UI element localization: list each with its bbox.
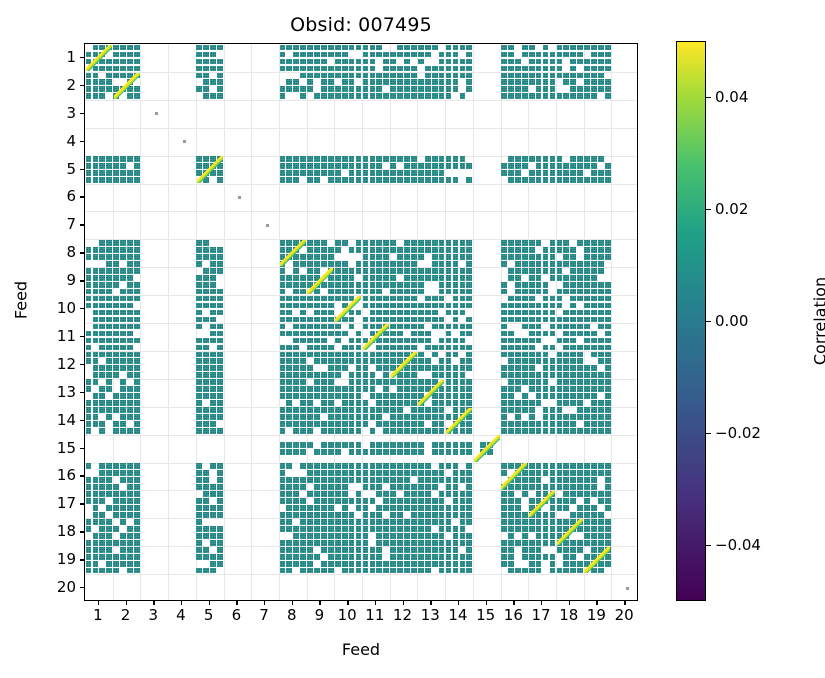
heatmap-cell — [390, 282, 396, 288]
heatmap-cell — [342, 240, 348, 246]
heatmap-cell — [363, 386, 369, 392]
heatmap-cell — [376, 275, 382, 281]
heatmap-cell — [328, 512, 334, 518]
heatmap-cell — [210, 66, 216, 72]
heatmap-cell — [404, 45, 410, 51]
heatmap-cell — [425, 533, 431, 539]
heatmap-cell — [591, 477, 597, 483]
heatmap-cell — [557, 463, 563, 469]
heatmap-cell — [557, 261, 563, 267]
heatmap-cell — [411, 512, 417, 518]
heatmap-cell — [570, 365, 576, 371]
heatmap-cell — [522, 421, 528, 427]
heatmap-cell — [397, 261, 403, 267]
heatmap-cell — [411, 449, 417, 455]
heatmap-cell — [321, 331, 327, 337]
heatmap-cell — [446, 561, 452, 567]
heatmap-cell — [363, 477, 369, 483]
heatmap-cell — [93, 540, 99, 546]
heatmap-cell — [598, 170, 604, 176]
heatmap-cell — [432, 421, 438, 427]
heatmap-cell — [356, 379, 362, 385]
heatmap-cell — [411, 177, 417, 183]
heatmap-cell — [127, 407, 133, 413]
heatmap-cell — [439, 554, 445, 560]
heatmap-cell — [307, 442, 313, 448]
heatmap-cell — [120, 331, 126, 337]
heatmap-cell — [370, 568, 376, 574]
heatmap-cell — [563, 310, 569, 316]
heatmap-cell — [501, 66, 507, 72]
heatmap-cell — [217, 352, 223, 358]
heatmap-cell — [127, 484, 133, 490]
heatmap-cell — [522, 177, 528, 183]
heatmap-cell — [93, 86, 99, 92]
heatmap-cell — [543, 261, 549, 267]
heatmap-cell — [99, 352, 105, 358]
heatmap-cell — [363, 372, 369, 378]
heatmap-cell — [397, 561, 403, 567]
heatmap-cell — [363, 73, 369, 79]
heatmap-cell — [196, 386, 202, 392]
heatmap-cell — [460, 554, 466, 560]
heatmap-cell — [370, 561, 376, 567]
heatmap-cell — [134, 177, 140, 183]
heatmap-cell — [550, 358, 556, 364]
heatmap-cell — [370, 428, 376, 434]
heatmap-cell — [446, 352, 452, 358]
heatmap-cell — [307, 568, 313, 574]
heatmap-cell — [404, 93, 410, 99]
heatmap-cell — [418, 310, 424, 316]
heatmap-cell — [584, 519, 590, 525]
heatmap-cell — [605, 365, 611, 371]
heatmap-cell — [501, 393, 507, 399]
heatmap-cell — [563, 289, 569, 295]
heatmap-cell — [411, 463, 417, 469]
heatmap-cell — [113, 568, 119, 574]
heatmap-cell — [439, 338, 445, 344]
heatmap-cell — [86, 407, 92, 413]
heatmap-cell — [196, 519, 202, 525]
heatmap-cell — [363, 79, 369, 85]
heatmap-cell — [370, 372, 376, 378]
heatmap-cell — [536, 240, 542, 246]
heatmap-cell — [314, 498, 320, 504]
heatmap-cell — [577, 45, 583, 51]
gridline-vertical — [611, 44, 612, 600]
heatmap-cell — [460, 393, 466, 399]
heatmap-cell — [356, 407, 362, 413]
heatmap-cell — [591, 540, 597, 546]
heatmap-cell — [113, 505, 119, 511]
heatmap-cell — [515, 59, 521, 65]
heatmap-cell — [217, 358, 223, 364]
heatmap-cell — [349, 386, 355, 392]
heatmap-cell — [550, 52, 556, 58]
heatmap-cell — [508, 331, 514, 337]
heatmap-cell — [210, 275, 216, 281]
heatmap-cell — [397, 407, 403, 413]
heatmap-cell — [529, 282, 535, 288]
heatmap-cell — [86, 414, 92, 420]
heatmap-cell — [570, 289, 576, 295]
heatmap-cell — [307, 240, 313, 246]
heatmap-cell — [453, 163, 459, 169]
heatmap-cell — [106, 547, 112, 553]
gridline-vertical — [473, 44, 474, 600]
heatmap-cell — [120, 421, 126, 427]
heatmap-cell — [280, 268, 286, 274]
heatmap-cell — [605, 414, 611, 420]
heatmap-cell — [446, 449, 452, 455]
heatmap-cell — [307, 386, 313, 392]
heatmap-cell — [280, 414, 286, 420]
heatmap-cell — [210, 93, 216, 99]
heatmap-cell — [453, 275, 459, 281]
heatmap-cell — [217, 268, 223, 274]
heatmap-cell — [522, 93, 528, 99]
heatmap-cell — [543, 365, 549, 371]
heatmap-cell — [598, 428, 604, 434]
heatmap-cell — [536, 303, 542, 309]
heatmap-cell — [328, 498, 334, 504]
heatmap-cell — [522, 352, 528, 358]
heatmap-cell — [446, 59, 452, 65]
heatmap-cell — [501, 526, 507, 532]
heatmap-cell — [120, 52, 126, 58]
heatmap-cell — [605, 477, 611, 483]
heatmap-cell — [570, 372, 576, 378]
heatmap-cell — [563, 345, 569, 351]
heatmap-cell — [280, 421, 286, 427]
heatmap-cell — [99, 526, 105, 532]
heatmap-cell — [300, 540, 306, 546]
heatmap-cell — [349, 170, 355, 176]
heatmap-cell — [335, 561, 341, 567]
heatmap-cell — [349, 547, 355, 553]
heatmap-cell — [120, 268, 126, 274]
heatmap-cell — [529, 289, 535, 295]
heatmap-cell — [570, 547, 576, 553]
self-correlation-diagonal — [307, 268, 333, 294]
heatmap-cell — [453, 498, 459, 504]
heatmap-cell — [363, 66, 369, 72]
heatmap-cell — [314, 407, 320, 413]
heatmap-cell — [134, 170, 140, 176]
heatmap-cell — [342, 498, 348, 504]
heatmap-cell — [106, 533, 112, 539]
heatmap-cell — [543, 317, 549, 323]
heatmap-cell — [370, 86, 376, 92]
heatmap-cell — [293, 324, 299, 330]
heatmap-cell — [425, 268, 431, 274]
heatmap-cell — [529, 156, 535, 162]
heatmap-cell — [439, 449, 445, 455]
heatmap-cell — [300, 421, 306, 427]
heatmap-cell — [598, 289, 604, 295]
heatmap-cell — [460, 505, 466, 511]
heatmap-cell — [529, 177, 535, 183]
heatmap-cell — [127, 282, 133, 288]
heatmap-cell — [515, 296, 521, 302]
heatmap-cell — [460, 498, 466, 504]
heatmap-cell — [397, 533, 403, 539]
heatmap-cell — [425, 79, 431, 85]
heatmap-cell — [453, 477, 459, 483]
heatmap-cell — [335, 407, 341, 413]
heatmap-cell — [217, 393, 223, 399]
heatmap-cell — [307, 393, 313, 399]
self-correlation-diagonal — [501, 463, 527, 489]
heatmap-cell — [120, 400, 126, 406]
heatmap-cell — [93, 421, 99, 427]
heatmap-cell — [550, 59, 556, 65]
heatmap-cell — [349, 421, 355, 427]
heatmap-cell — [356, 428, 362, 434]
heatmap-cell — [453, 512, 459, 518]
heatmap-cell — [466, 561, 472, 567]
heatmap-cell — [439, 247, 445, 253]
heatmap-cell — [570, 470, 576, 476]
heatmap-cell — [363, 163, 369, 169]
heatmap-cell — [106, 491, 112, 497]
heatmap-cell — [134, 498, 140, 504]
heatmap-cell — [411, 421, 417, 427]
heatmap-cell — [446, 177, 452, 183]
heatmap-cell — [439, 372, 445, 378]
heatmap-cell — [508, 275, 514, 281]
heatmap-cell — [335, 358, 341, 364]
heatmap-cell — [134, 372, 140, 378]
heatmap-cell — [342, 442, 348, 448]
heatmap-cell — [349, 275, 355, 281]
heatmap-cell — [113, 254, 119, 260]
heatmap-cell — [508, 66, 514, 72]
heatmap-cell — [342, 512, 348, 518]
y-axis-tick-label: 4 — [42, 132, 76, 150]
heatmap-cell — [383, 268, 389, 274]
heatmap-cell — [543, 93, 549, 99]
heatmap-cell — [328, 484, 334, 490]
heatmap-cell — [460, 519, 466, 525]
heatmap-cell — [598, 73, 604, 79]
heatmap-cell — [529, 59, 535, 65]
heatmap-cell — [280, 428, 286, 434]
heatmap-cell — [196, 345, 202, 351]
heatmap-cell — [529, 303, 535, 309]
heatmap-cell — [390, 296, 396, 302]
heatmap-cell — [515, 254, 521, 260]
heatmap-cell — [522, 240, 528, 246]
heatmap-cell — [217, 463, 223, 469]
heatmap-cell — [460, 66, 466, 72]
heatmap-cell — [356, 372, 362, 378]
heatmap-cell — [563, 470, 569, 476]
heatmap-cell — [300, 163, 306, 169]
heatmap-cell — [335, 59, 341, 65]
heatmap-cell — [390, 505, 396, 511]
heatmap-cell — [120, 59, 126, 65]
heatmap-cell — [584, 310, 590, 316]
heatmap-cell — [598, 338, 604, 344]
heatmap-cell — [293, 345, 299, 351]
heatmap-cell — [557, 358, 563, 364]
heatmap-cell — [286, 547, 292, 553]
heatmap-cell — [411, 93, 417, 99]
heatmap-cell — [286, 379, 292, 385]
heatmap-cell — [349, 407, 355, 413]
heatmap-cell — [293, 59, 299, 65]
heatmap-cell — [550, 470, 556, 476]
heatmap-cell — [536, 352, 542, 358]
heatmap-cell — [383, 275, 389, 281]
heatmap-cell — [508, 379, 514, 385]
heatmap-cell — [328, 393, 334, 399]
heatmap-cell — [86, 282, 92, 288]
heatmap-cell — [557, 156, 563, 162]
heatmap-cell — [418, 540, 424, 546]
heatmap-cell — [363, 540, 369, 546]
heatmap-cell — [584, 261, 590, 267]
heatmap-cell — [363, 547, 369, 553]
heatmap-cell — [286, 345, 292, 351]
heatmap-cell — [591, 240, 597, 246]
heatmap-cell — [439, 561, 445, 567]
heatmap-cell — [522, 393, 528, 399]
heatmap-cell — [314, 73, 320, 79]
heatmap-cell — [120, 66, 126, 72]
heatmap-cell — [106, 526, 112, 532]
heatmap-cell — [286, 59, 292, 65]
heatmap-cell — [390, 289, 396, 295]
heatmap-cell — [418, 93, 424, 99]
heatmap-cell — [432, 163, 438, 169]
heatmap-cell — [557, 393, 563, 399]
heatmap-cell — [446, 324, 452, 330]
heatmap-cell — [86, 526, 92, 532]
heatmap-cell — [321, 45, 327, 51]
heatmap-cell — [342, 407, 348, 413]
heatmap-cell — [557, 547, 563, 553]
heatmap-cell — [127, 400, 133, 406]
heatmap-cell — [93, 533, 99, 539]
heatmap-cell — [335, 470, 341, 476]
heatmap-cell — [300, 352, 306, 358]
heatmap-cell — [563, 554, 569, 560]
heatmap-cell — [536, 540, 542, 546]
heatmap-cell — [280, 463, 286, 469]
heatmap-cell — [605, 428, 611, 434]
heatmap-cell — [99, 568, 105, 574]
heatmap-cell — [342, 177, 348, 183]
heatmap-cell — [550, 428, 556, 434]
heatmap-cell — [425, 484, 431, 490]
heatmap-cell — [598, 491, 604, 497]
heatmap-cell — [217, 470, 223, 476]
heatmap-cell — [307, 526, 313, 532]
heatmap-cell — [127, 533, 133, 539]
heatmap-cell — [370, 45, 376, 51]
heatmap-cell — [584, 540, 590, 546]
x-axis-tick — [319, 601, 320, 605]
heatmap-cell — [196, 66, 202, 72]
heatmap-cell — [210, 463, 216, 469]
heatmap-cell — [439, 365, 445, 371]
heatmap-cell — [536, 289, 542, 295]
heatmap-cell — [598, 254, 604, 260]
heatmap-cell — [390, 261, 396, 267]
heatmap-cell — [370, 477, 376, 483]
heatmap-cell — [307, 317, 313, 323]
heatmap-cell — [383, 358, 389, 364]
heatmap-cell — [293, 414, 299, 420]
heatmap-cell — [598, 470, 604, 476]
heatmap-cell — [418, 470, 424, 476]
heatmap-cell — [120, 345, 126, 351]
heatmap-cell — [508, 428, 514, 434]
heatmap-cell — [418, 407, 424, 413]
heatmap-cell — [127, 317, 133, 323]
heatmap-cell — [314, 372, 320, 378]
y-axis-tick-label: 14 — [42, 411, 76, 429]
heatmap-cell — [529, 421, 535, 427]
heatmap-cell — [328, 345, 334, 351]
heatmap-cell — [605, 177, 611, 183]
heatmap-cell — [376, 79, 382, 85]
heatmap-cell — [446, 568, 452, 574]
heatmap-cell — [390, 303, 396, 309]
heatmap-cell — [314, 449, 320, 455]
heatmap-cell — [314, 386, 320, 392]
heatmap-cell — [363, 358, 369, 364]
heatmap-cell — [536, 338, 542, 344]
heatmap-cell — [370, 547, 376, 553]
heatmap-cell — [432, 345, 438, 351]
heatmap-cell — [321, 512, 327, 518]
heatmap-cell — [196, 303, 202, 309]
heatmap-cell — [286, 540, 292, 546]
heatmap-cell — [508, 540, 514, 546]
heatmap-cell — [453, 254, 459, 260]
heatmap-cell — [466, 345, 472, 351]
heatmap-cell — [99, 86, 105, 92]
heatmap-cell — [466, 568, 472, 574]
heatmap-cell — [370, 66, 376, 72]
x-axis-tick — [209, 601, 210, 605]
heatmap-cell — [280, 498, 286, 504]
heatmap-cell — [390, 421, 396, 427]
heatmap-cell — [425, 66, 431, 72]
heatmap-cell — [280, 352, 286, 358]
heatmap-cell — [446, 484, 452, 490]
heatmap-cell — [508, 317, 514, 323]
heatmap-cell — [411, 303, 417, 309]
heatmap-cell — [113, 365, 119, 371]
heatmap-cell — [370, 407, 376, 413]
heatmap-cell — [321, 477, 327, 483]
heatmap-cell — [425, 93, 431, 99]
heatmap-cell — [376, 470, 382, 476]
heatmap-cell — [397, 317, 403, 323]
heatmap-cell — [300, 324, 306, 330]
heatmap-cell — [99, 477, 105, 483]
heatmap-cell — [508, 52, 514, 58]
heatmap-cell — [280, 358, 286, 364]
heatmap-cell — [280, 540, 286, 546]
colorbar-tick-label: −0.04 — [715, 536, 761, 554]
heatmap-cell — [300, 505, 306, 511]
